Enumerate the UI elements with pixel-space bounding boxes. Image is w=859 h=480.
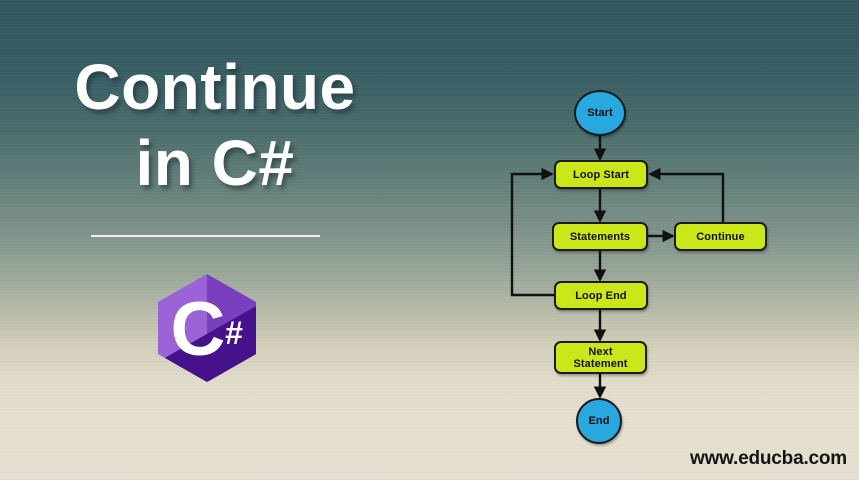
flowchart-node-label: Loop End [575, 290, 627, 302]
flowchart-node-label: Start [587, 107, 613, 119]
flowchart-node-loopend: Loop End [554, 281, 648, 310]
edge-continue-to-loopstart [650, 174, 723, 222]
flowchart-node-label: Loop Start [573, 169, 629, 181]
flowchart-node-label: Continue [696, 231, 744, 243]
slide-canvas: Continue in C# C # [0, 0, 859, 480]
flowchart-node-end: End [576, 398, 622, 444]
footer-website-url: www.educba.com [690, 448, 847, 470]
flowchart-node-continue: Continue [674, 222, 767, 251]
edge-loopend-to-loopstart [512, 174, 554, 295]
flowchart-node-label: NextStatement [573, 346, 627, 370]
flowchart-node-label: Statements [570, 231, 630, 243]
flowchart-node-start: Start [574, 90, 626, 136]
flowchart-node-next: NextStatement [554, 341, 647, 374]
flowchart-node-label: End [588, 415, 609, 427]
flowchart-node-loopstart: Loop Start [554, 160, 648, 189]
flowchart-node-statements: Statements [552, 222, 648, 251]
